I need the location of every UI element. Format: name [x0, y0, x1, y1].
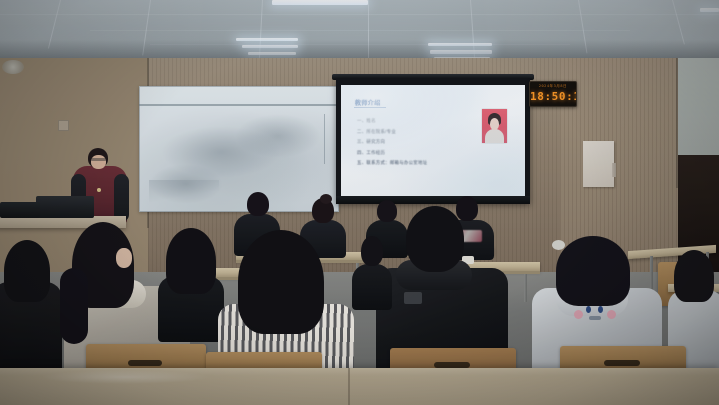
- student-head: [406, 206, 464, 272]
- ceiling-light-fixture: [272, 0, 368, 5]
- character-cheek: [574, 310, 583, 319]
- student-hair: [674, 250, 714, 302]
- slide-bullet: 五、联系方式：邮箱与办公室地址: [357, 158, 469, 169]
- ceiling-grid-line: [90, 30, 630, 31]
- slide-bullet: 三、研究方向: [357, 137, 469, 148]
- desk-leg: [524, 274, 527, 302]
- desk-light-reflection: [40, 370, 210, 384]
- slide-bullet: 四、工作经历: [357, 148, 469, 159]
- whiteboard-erased-writing: [149, 180, 219, 206]
- digital-wall-clock: 2024年3月8日 18:50:19: [529, 81, 577, 107]
- character-eye: [598, 306, 603, 313]
- student-hair-bun: [320, 194, 332, 204]
- student-head: [361, 236, 383, 266]
- ceiling-speaker: [2, 60, 24, 74]
- chair-handle-slot: [128, 360, 162, 366]
- wall-corner-edge: [676, 58, 678, 188]
- slide-title-underline: [354, 107, 386, 108]
- student-left-edge: [0, 240, 62, 380]
- character-mouth: [589, 316, 601, 320]
- student-torso: [352, 264, 392, 310]
- hair-clip: [552, 240, 565, 250]
- ceiling: [0, 0, 719, 62]
- chair-handle-slot: [604, 360, 640, 366]
- slide-body: 一、姓名 二、所在院系/专业 三、研究方向 四、工作经历 五、联系方式：邮箱与办…: [357, 116, 469, 169]
- wall-poster: [583, 141, 614, 187]
- hoodie-character-graphic: [572, 302, 618, 332]
- classroom-photo: 教师介绍 一、姓名 二、所在院系/专业 三、研究方向 四、工作经历 五、联系方式…: [0, 0, 719, 405]
- presenter-badge: [97, 188, 101, 192]
- podium-monitor: [0, 202, 40, 218]
- student-mid-longhair: [158, 228, 224, 338]
- student-head: [247, 192, 269, 216]
- student-neck: [116, 248, 132, 268]
- student-hair: [556, 236, 630, 306]
- whiteboard-seam: [324, 114, 325, 164]
- portrait-shoulders: [485, 129, 504, 143]
- student-hair: [238, 230, 324, 334]
- podium-monitor: [36, 196, 94, 218]
- hoodie-logo: [404, 292, 422, 304]
- presenter-arm: [114, 174, 129, 222]
- ceiling-grid-line: [0, 14, 719, 15]
- portrait-face: [490, 118, 499, 130]
- id-portrait-photo: [482, 109, 507, 143]
- student-ponytail: [60, 268, 88, 344]
- student-hair: [166, 228, 216, 294]
- poster-curl: [612, 163, 616, 177]
- wall-vent: [58, 120, 69, 131]
- slide-bullet: 一、姓名: [357, 116, 469, 127]
- slide-title: 教师介绍: [355, 98, 381, 107]
- clock-date: 2024年3月8日: [530, 84, 576, 89]
- presentation-slide: 教师介绍 一、姓名 二、所在院系/专业 三、研究方向 四、工作经历 五、联系方式…: [341, 85, 525, 197]
- glasses-icon: [91, 158, 106, 161]
- character-cheek: [607, 310, 616, 319]
- clock-time: 18:50:19: [530, 90, 576, 103]
- foreground-desk-seam: [348, 368, 350, 405]
- character-eye: [586, 306, 591, 313]
- whiteboard-smudge: [235, 114, 321, 158]
- whiteboard-rail: [139, 104, 339, 106]
- slide-bullet: 二、所在院系/专业: [357, 127, 469, 138]
- student-far-right: [352, 236, 392, 306]
- student-hair: [4, 240, 50, 302]
- ceiling-light-fixture: [700, 8, 719, 12]
